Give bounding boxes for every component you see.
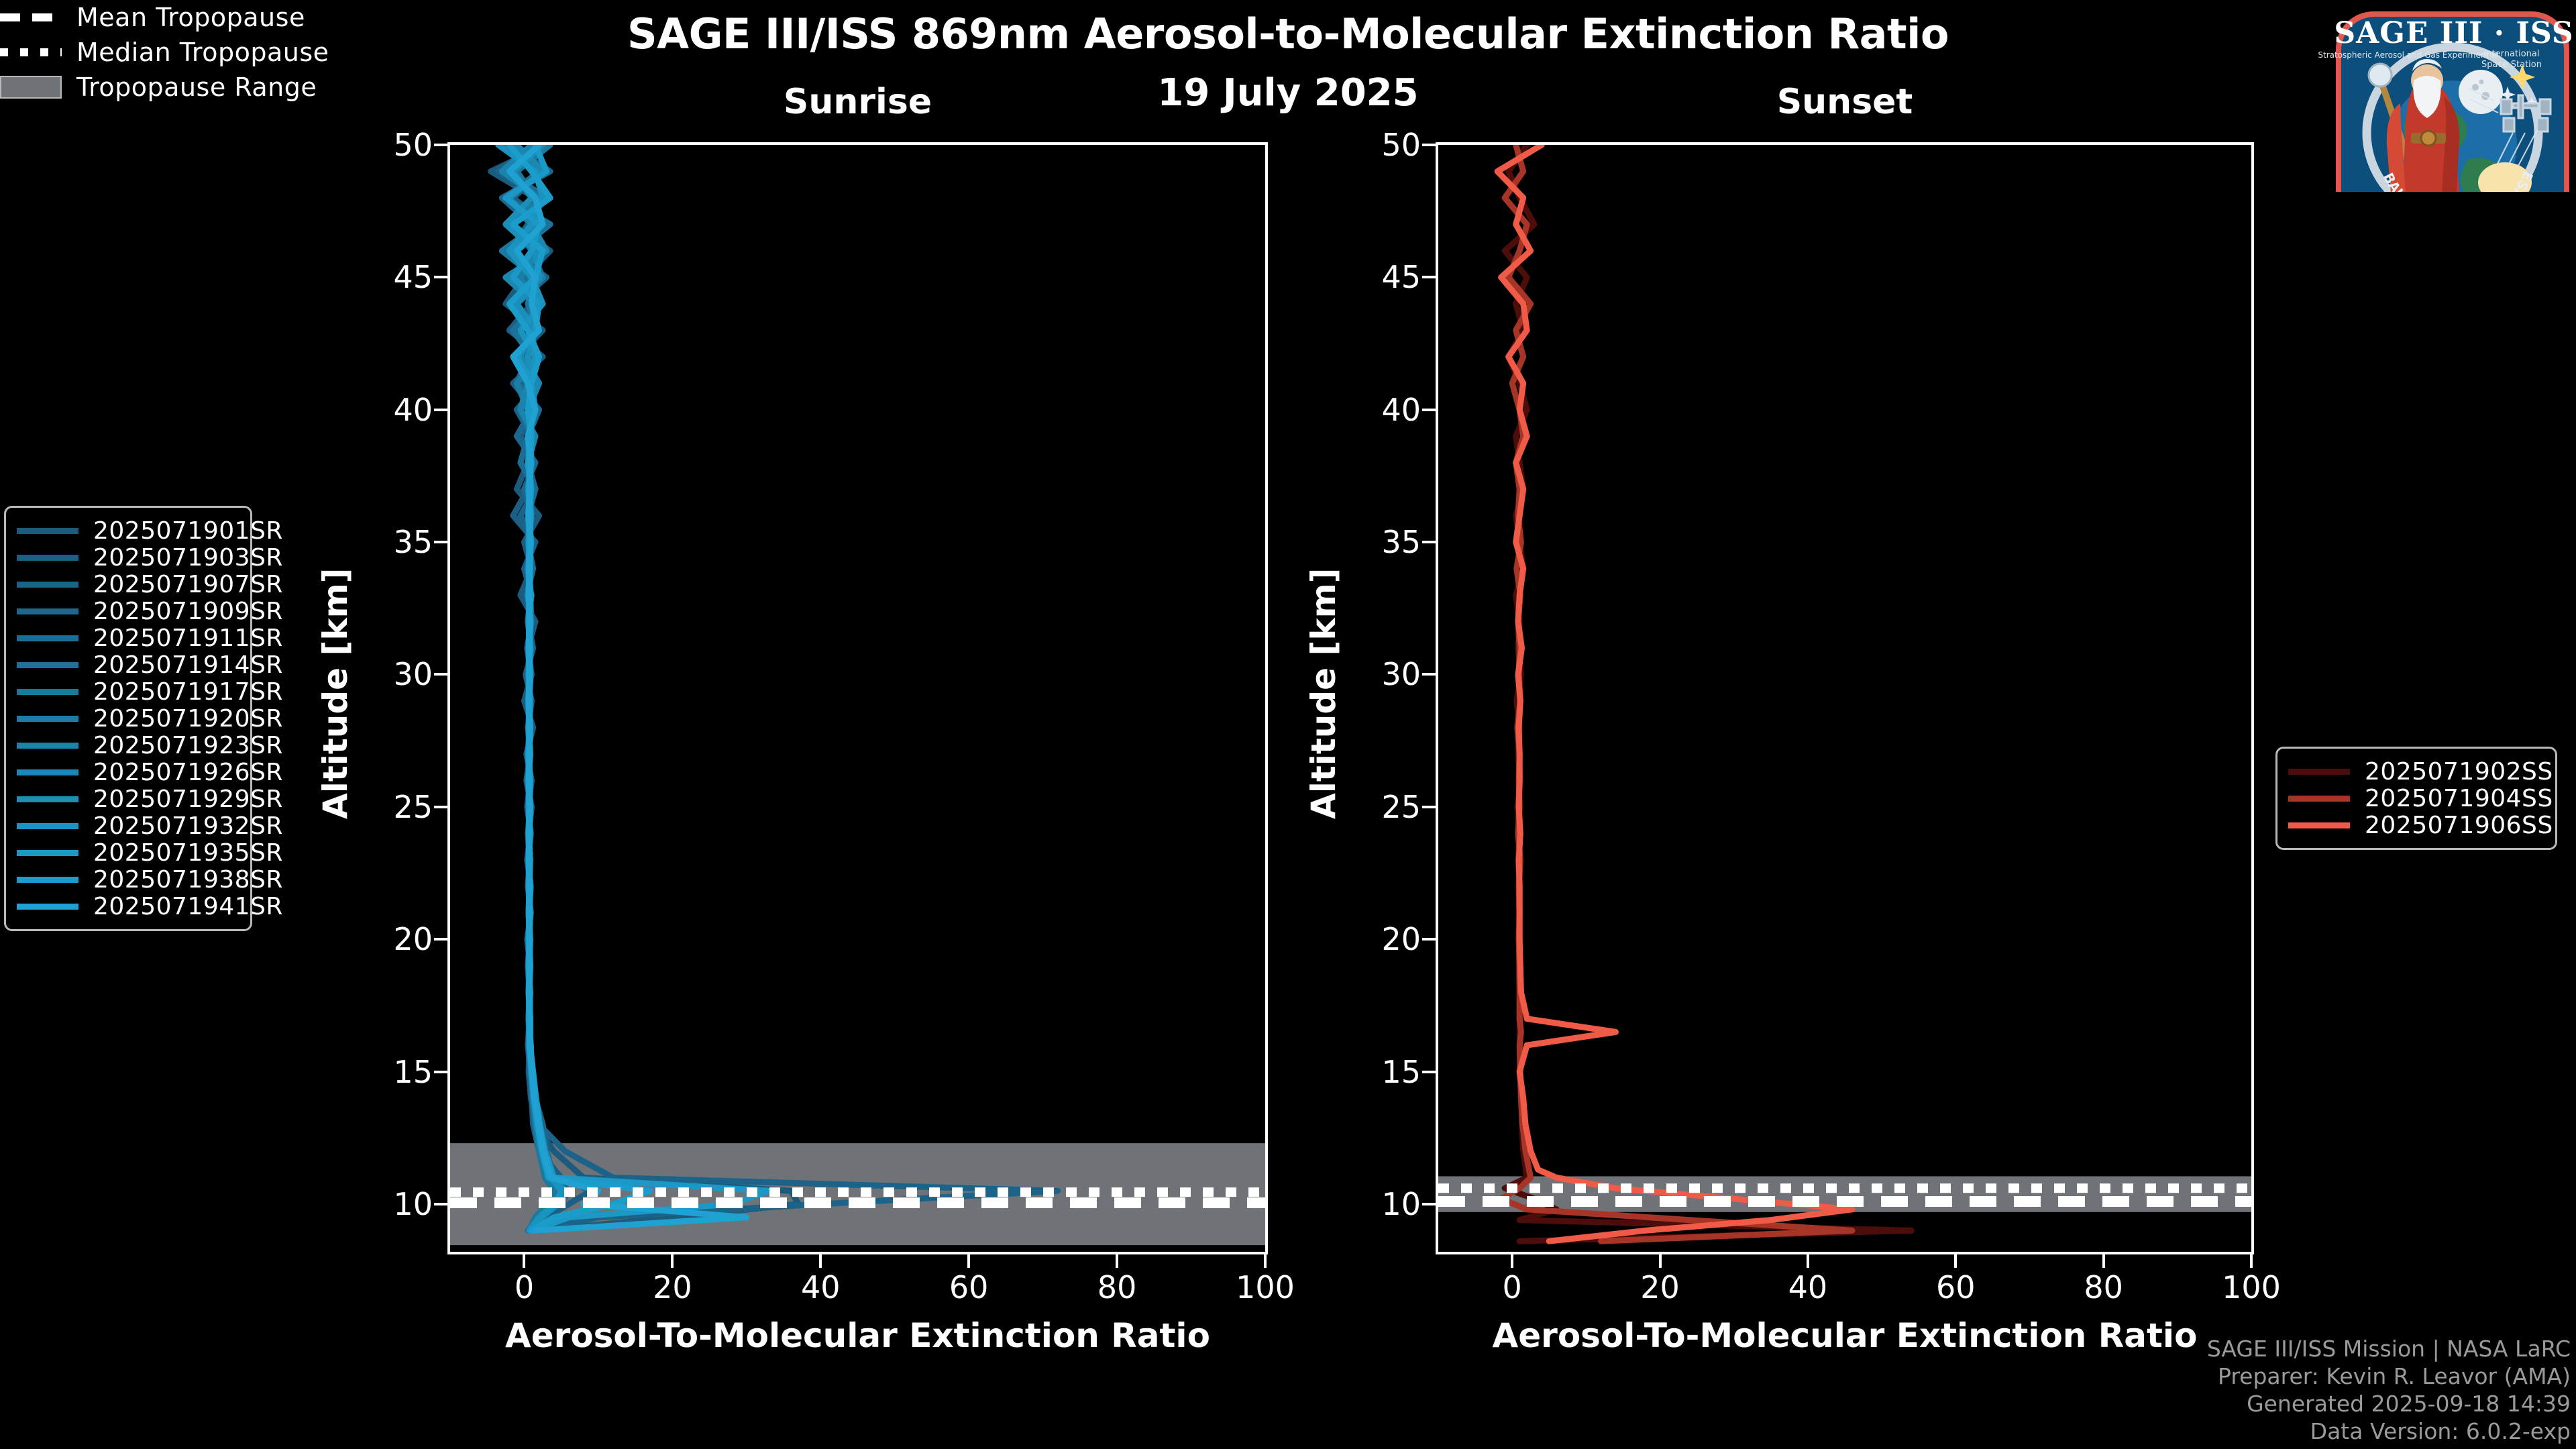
sunrise-y-axis: 504540353025201510 bbox=[360, 142, 447, 1254]
legend-color-swatch bbox=[2288, 822, 2350, 828]
legend-color-swatch bbox=[17, 850, 78, 856]
sunrise-x-axis-label: Aerosol-To-Molecular Extinction Ratio bbox=[447, 1316, 1268, 1355]
sunset-x-tick-label: 100 bbox=[2222, 1269, 2281, 1305]
legend-item-2025071938SR[interactable]: 2025071938SR bbox=[17, 866, 238, 893]
sage3-iss-mission-patch-logo: BALL ESA SAGE III · ISS Stratospheric Ae… bbox=[2282, 1, 2575, 192]
sunrise-y-tick-label: 20 bbox=[345, 921, 447, 957]
sunset-y-axis-label: Altitude [km] bbox=[1304, 568, 1343, 819]
legend-item-label: 2025071923SR bbox=[93, 732, 283, 759]
svg-text:Space Station: Space Station bbox=[2481, 60, 2542, 70]
legend-item-label: 2025071941SR bbox=[93, 893, 283, 920]
sunset-x-tick-label: 20 bbox=[1640, 1269, 1680, 1305]
sunrise-x-axis: 020406080100 bbox=[450, 1254, 1265, 1315]
legend-item-label: 2025071917SR bbox=[93, 678, 283, 706]
sunrise-x-tick-label: 100 bbox=[1236, 1269, 1295, 1305]
sunrise-y-tick-mark bbox=[434, 938, 447, 941]
sunset-y-tick-label: 15 bbox=[1334, 1054, 1436, 1090]
sunset-y-tick-label: 35 bbox=[1334, 524, 1436, 560]
sunrise-x-tick-mark bbox=[523, 1254, 525, 1268]
sunrise-y-tick-label: 40 bbox=[345, 392, 447, 428]
sunset-x-tick-label: 60 bbox=[1936, 1269, 1976, 1305]
legend-item-2025071920SR[interactable]: 2025071920SR bbox=[17, 705, 238, 732]
legend-item-2025071911SR[interactable]: 2025071911SR bbox=[17, 625, 238, 651]
sunset-y-tick-label: 40 bbox=[1334, 392, 1436, 428]
svg-text:Stratospheric Aerosol and Gas: Stratospheric Aerosol and Gas Experiment… bbox=[2318, 50, 2498, 60]
sunrise-profile-lines bbox=[450, 145, 1265, 1252]
series-line-2025071902SS bbox=[1505, 145, 1911, 1241]
sunrise-y-tick-label: 50 bbox=[345, 127, 447, 163]
sunset-y-tick-mark bbox=[1422, 144, 1436, 146]
sunrise-y-tick-mark bbox=[434, 1071, 447, 1073]
sunset-y-tick-label: 25 bbox=[1334, 789, 1436, 825]
sunset-plot-area bbox=[1436, 142, 2254, 1254]
sunset-y-tick-mark bbox=[1422, 1071, 1436, 1073]
legend-item-2025071901SR[interactable]: 2025071901SR bbox=[17, 517, 238, 544]
sunset-x-axis-label: Aerosol-To-Molecular Extinction Ratio bbox=[1436, 1316, 2254, 1355]
sunset-plot-canvas bbox=[1438, 145, 2251, 1252]
sunset-x-tick-label: 80 bbox=[2084, 1269, 2123, 1305]
sunrise-legend[interactable]: 2025071901SR2025071903SR2025071907SR2025… bbox=[4, 506, 252, 931]
sunset-y-tick-label: 30 bbox=[1334, 656, 1436, 692]
sunrise-x-tick-mark bbox=[671, 1254, 674, 1268]
sunset-y-tick-label: 10 bbox=[1334, 1186, 1436, 1222]
svg-text:SAGE III · ISS: SAGE III · ISS bbox=[2334, 16, 2573, 50]
sunrise-x-tick-mark bbox=[967, 1254, 970, 1268]
legend-item-label: 2025071906SS bbox=[2365, 812, 2553, 839]
sunrise-y-axis-label: Altitude [km] bbox=[316, 568, 355, 819]
legend-item-2025071932SR[interactable]: 2025071932SR bbox=[17, 812, 238, 839]
sunset-legend[interactable]: 2025071902SS2025071904SS2025071906SS bbox=[2275, 747, 2557, 850]
legend-color-swatch bbox=[17, 823, 78, 829]
legend-color-swatch bbox=[17, 743, 78, 749]
sunset-y-axis: 504540353025201510 bbox=[1348, 142, 1436, 1254]
legend-color-swatch bbox=[17, 662, 78, 668]
sunset-x-tick-mark bbox=[2250, 1254, 2253, 1268]
legend-color-swatch bbox=[2288, 796, 2350, 802]
sunset-y-tick-mark bbox=[1422, 673, 1436, 676]
sunset-x-tick-mark bbox=[2102, 1254, 2105, 1268]
sunrise-x-tick-label: 60 bbox=[949, 1269, 989, 1305]
sunset-panel-title: Sunset bbox=[1436, 82, 2254, 122]
legend-item-label: 2025071901SR bbox=[93, 517, 283, 545]
series-line-2025071904SS bbox=[1501, 145, 1852, 1241]
legend-item-2025071904SS[interactable]: 2025071904SS bbox=[2288, 785, 2543, 812]
sunrise-y-tick-label: 30 bbox=[345, 656, 447, 692]
sunrise-y-tick-mark bbox=[434, 409, 447, 411]
sunrise-x-tick-mark bbox=[819, 1254, 822, 1268]
series-line-2025071935SR bbox=[506, 145, 769, 1230]
sunset-profile-lines bbox=[1438, 145, 2251, 1252]
sunset-y-tick-label: 20 bbox=[1334, 921, 1436, 957]
sunrise-x-tick-label: 20 bbox=[653, 1269, 692, 1305]
legend-color-swatch bbox=[17, 796, 78, 802]
legend-item-label: 2025071920SR bbox=[93, 705, 283, 733]
sunrise-x-tick-mark bbox=[1116, 1254, 1118, 1268]
legend-color-swatch bbox=[17, 904, 78, 910]
sunrise-y-tick-mark bbox=[434, 673, 447, 676]
sunset-y-tick-mark bbox=[1422, 276, 1436, 278]
legend-item-2025071903SR[interactable]: 2025071903SR bbox=[17, 544, 238, 571]
credits-line: Generated 2025-09-18 14:39 bbox=[2207, 1390, 2571, 1417]
sunrise-y-tick-mark bbox=[434, 144, 447, 146]
legend-item-2025071909SR[interactable]: 2025071909SR bbox=[17, 598, 238, 625]
sunset-x-tick-mark bbox=[1511, 1254, 1513, 1268]
credits-block: SAGE III/ISS Mission | NASA LaRCPreparer… bbox=[2207, 1335, 2571, 1445]
page-title: SAGE III/ISS 869nm Aerosol-to-Molecular … bbox=[0, 9, 2576, 58]
sunrise-y-tick-mark bbox=[434, 806, 447, 808]
sunrise-x-tick-label: 80 bbox=[1097, 1269, 1137, 1305]
legend-item-2025071929SR[interactable]: 2025071929SR bbox=[17, 786, 238, 812]
legend-item-label: 2025071926SR bbox=[93, 759, 283, 786]
sunrise-x-tick-mark bbox=[1264, 1254, 1267, 1268]
legend-item-label: 2025071909SR bbox=[93, 598, 283, 625]
sunrise-y-tick-mark bbox=[434, 541, 447, 543]
sunrise-y-tick-label: 35 bbox=[345, 524, 447, 560]
legend-color-swatch bbox=[17, 716, 78, 722]
sunset-y-tick-mark bbox=[1422, 806, 1436, 808]
legend-color-swatch bbox=[2288, 769, 2350, 775]
credits-line: Data Version: 6.0.2-exp bbox=[2207, 1417, 2571, 1445]
legend-item-2025071917SR[interactable]: 2025071917SR bbox=[17, 678, 238, 705]
legend-color-swatch bbox=[17, 635, 78, 641]
legend-item-2025071926SR[interactable]: 2025071926SR bbox=[17, 759, 238, 786]
sunset-x-tick-label: 40 bbox=[1788, 1269, 1828, 1305]
legend-color-swatch bbox=[17, 769, 78, 775]
sunset-y-tick-label: 45 bbox=[1334, 259, 1436, 295]
sunset-y-tick-mark bbox=[1422, 409, 1436, 411]
legend-color-swatch bbox=[17, 608, 78, 614]
sunset-x-tick-mark bbox=[1954, 1254, 1957, 1268]
sunrise-y-tick-label: 45 bbox=[345, 259, 447, 295]
sunrise-y-tick-label: 10 bbox=[345, 1186, 447, 1222]
series-line-2025071906SS bbox=[1497, 145, 1852, 1241]
legend-item-label: 2025071932SR bbox=[93, 812, 283, 840]
legend-color-swatch bbox=[17, 582, 78, 588]
sunrise-plot-area bbox=[447, 142, 1268, 1254]
svg-text:International: International bbox=[2484, 49, 2540, 59]
legend-item-label: 2025071929SR bbox=[93, 786, 283, 813]
sunrise-x-tick-label: 0 bbox=[515, 1269, 534, 1305]
legend-item-label: 2025071911SR bbox=[93, 625, 283, 652]
mission-patch-icon: BALL ESA SAGE III · ISS Stratospheric Ae… bbox=[2282, 1, 2575, 192]
legend-item-label: 2025071904SS bbox=[2365, 785, 2553, 812]
series-line-2025071907SR bbox=[498, 145, 1058, 1230]
sunset-y-tick-label: 50 bbox=[1334, 127, 1436, 163]
sunrise-plot-canvas bbox=[450, 145, 1265, 1252]
legend-item-2025071902SS[interactable]: 2025071902SS bbox=[2288, 758, 2543, 785]
sunrise-y-tick-label: 25 bbox=[345, 789, 447, 825]
legend-item-2025071906SS[interactable]: 2025071906SS bbox=[2288, 812, 2543, 839]
legend-item-label: 2025071903SR bbox=[93, 544, 283, 572]
series-line-2025071941SR bbox=[509, 145, 746, 1230]
sunset-x-tick-mark bbox=[1659, 1254, 1662, 1268]
legend-color-swatch bbox=[17, 555, 78, 561]
legend-item-label: 2025071935SR bbox=[93, 839, 283, 867]
legend-item-2025071907SR[interactable]: 2025071907SR bbox=[17, 571, 238, 598]
sunset-y-tick-mark bbox=[1422, 938, 1436, 941]
sunset-x-tick-label: 0 bbox=[1503, 1269, 1522, 1305]
legend-item-label: 2025071907SR bbox=[93, 571, 283, 598]
sunset-x-tick-mark bbox=[1807, 1254, 1809, 1268]
legend-item-2025071923SR[interactable]: 2025071923SR bbox=[17, 732, 238, 759]
legend-color-swatch bbox=[17, 528, 78, 534]
legend-color-swatch bbox=[17, 877, 78, 883]
sunset-y-tick-mark bbox=[1422, 541, 1436, 543]
legend-item-label: 2025071902SS bbox=[2365, 758, 2553, 786]
legend-item-2025071941SR[interactable]: 2025071941SR bbox=[17, 893, 238, 920]
legend-item-2025071935SR[interactable]: 2025071935SR bbox=[17, 839, 238, 866]
legend-item-label: 2025071938SR bbox=[93, 866, 283, 894]
sunrise-y-tick-mark bbox=[434, 1203, 447, 1205]
sunset-x-axis: 020406080100 bbox=[1438, 1254, 2251, 1315]
sunrise-panel-title: Sunrise bbox=[447, 82, 1268, 122]
credits-line: Preparer: Kevin R. Leavor (AMA) bbox=[2207, 1362, 2571, 1390]
sunset-y-tick-mark bbox=[1422, 1203, 1436, 1205]
legend-item-2025071914SR[interactable]: 2025071914SR bbox=[17, 651, 238, 678]
sunrise-y-tick-label: 15 bbox=[345, 1054, 447, 1090]
sunrise-x-tick-label: 40 bbox=[801, 1269, 841, 1305]
sunrise-y-tick-mark bbox=[434, 276, 447, 278]
credits-line: SAGE III/ISS Mission | NASA LaRC bbox=[2207, 1335, 2571, 1362]
legend-color-swatch bbox=[17, 689, 78, 695]
legend-item-label: 2025071914SR bbox=[93, 651, 283, 679]
